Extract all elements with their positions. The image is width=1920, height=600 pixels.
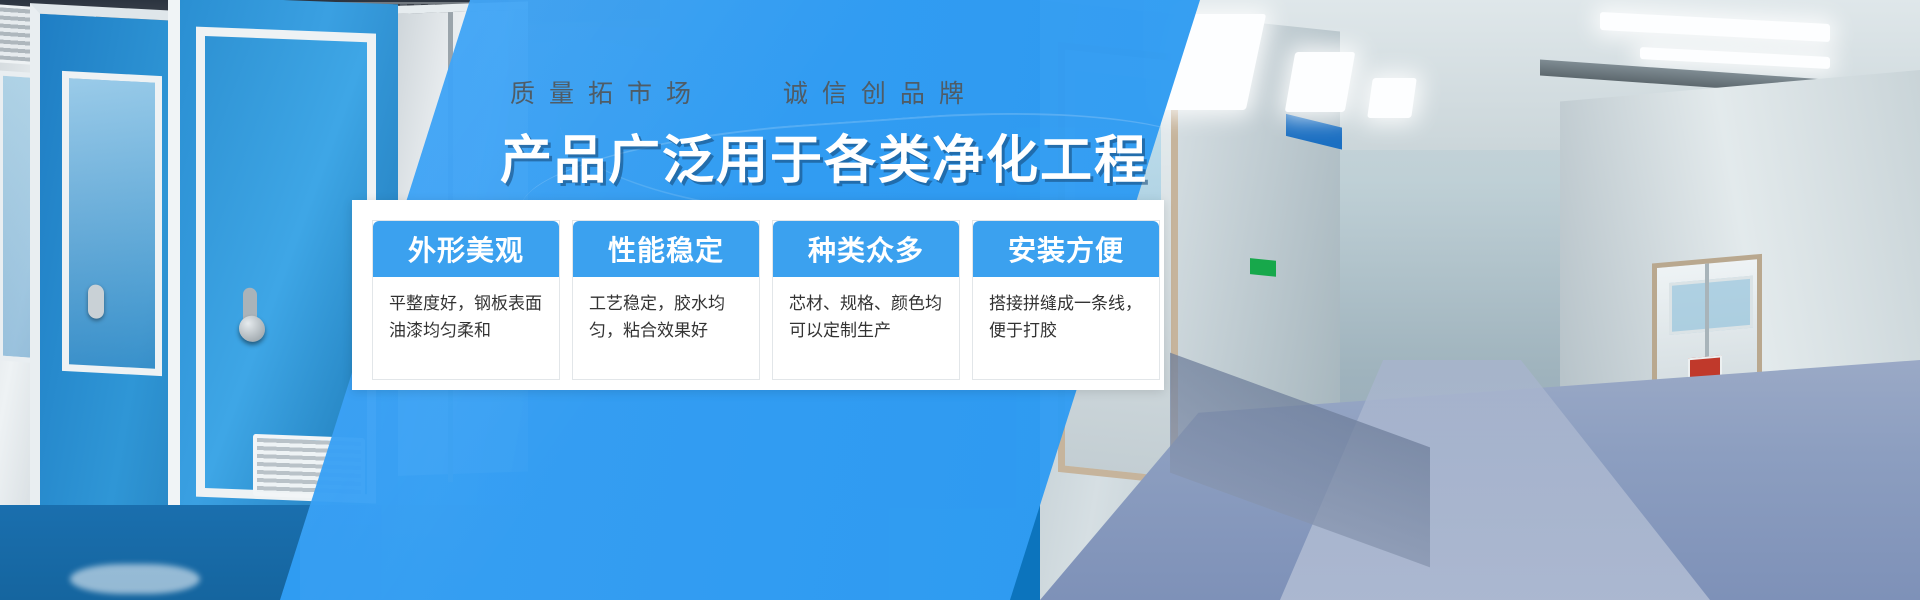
feature-card-title: 种类众多: [773, 221, 959, 277]
feature-card-body: 搭接拼缝成一条线，便于打胶: [973, 277, 1159, 379]
feature-card-body: 工艺稳定，胶水均匀，粘合效果好: [573, 277, 759, 379]
feature-card-installation[interactable]: 安装方便 搭接拼缝成一条线，便于打胶: [972, 220, 1160, 380]
tagline-part-1: 质量拓市场: [510, 79, 705, 108]
feature-card-body: 芯材、规格、颜色均可以定制生产: [773, 277, 959, 379]
feature-cards-row: 外形美观 平整度好，钢板表面油漆均匀柔和 性能稳定 工艺稳定，胶水均匀，粘合效果…: [372, 220, 1160, 380]
banner-headline: 产品广泛用于各类净化工程: [500, 118, 1148, 193]
feature-card-body: 平整度好，钢板表面油漆均匀柔和: [373, 277, 559, 379]
feature-card-title: 性能稳定: [573, 221, 759, 277]
feature-card-variety[interactable]: 种类众多 芯材、规格、颜色均可以定制生产: [772, 220, 960, 380]
tagline-part-2: 诚信创品牌: [783, 79, 978, 108]
banner-tagline: 质量拓市场 诚信创品牌: [510, 74, 978, 110]
feature-card-title: 安装方便: [973, 221, 1159, 277]
feature-cards-panel: 外形美观 平整度好，钢板表面油漆均匀柔和 性能稳定 工艺稳定，胶水均匀，粘合效果…: [352, 200, 1164, 390]
promo-banner: 质量拓市场 诚信创品牌 产品广泛用于各类净化工程 外形美观 平整度好，钢板表面油…: [0, 0, 1920, 600]
feature-card-performance[interactable]: 性能稳定 工艺稳定，胶水均匀，粘合效果好: [572, 220, 760, 380]
feature-card-title: 外形美观: [373, 221, 559, 277]
feature-card-appearance[interactable]: 外形美观 平整度好，钢板表面油漆均匀柔和: [372, 220, 560, 380]
banner-content: 质量拓市场 诚信创品牌 产品广泛用于各类净化工程 外形美观 平整度好，钢板表面油…: [0, 0, 1920, 600]
